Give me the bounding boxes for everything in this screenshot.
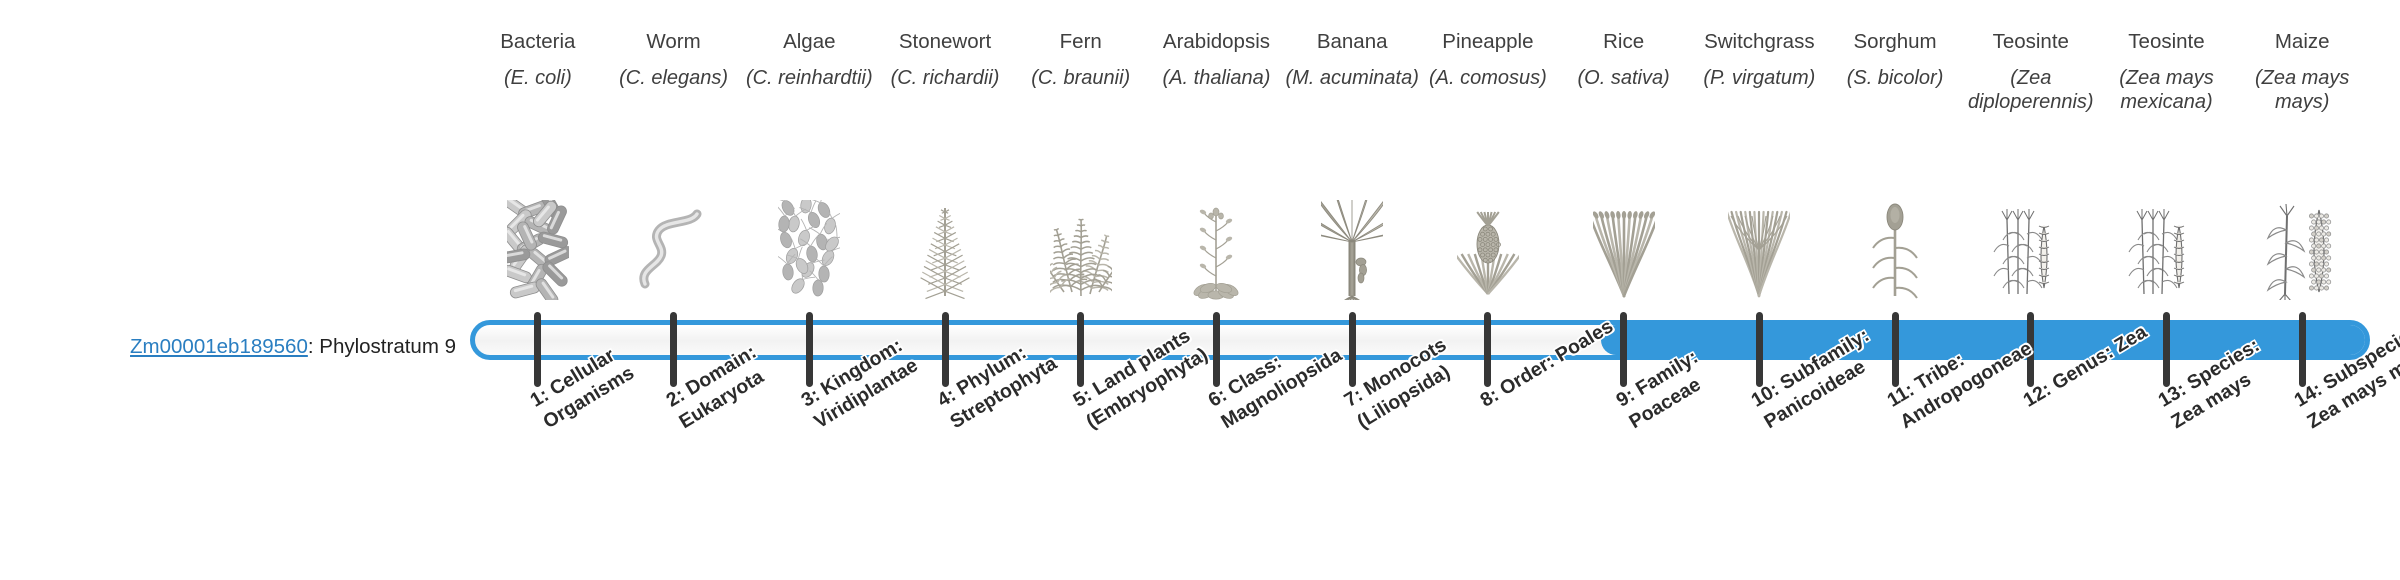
sorghum-icon: [1827, 195, 1963, 300]
gene-phylostratum-label: Zm00001eb189560: Phylostratum 9: [0, 336, 470, 359]
species-column: Arabidopsis(A. thaliana): [1149, 30, 1285, 300]
species-common-name: Teosinte: [1993, 30, 2069, 56]
taxonomy-label-layer: 1: Cellular Organisms2: Domain: Eukaryot…: [470, 392, 2370, 580]
species-column: Fern(C. braunii): [1013, 30, 1149, 300]
species-column: Maize(Zea mays mays): [2234, 30, 2370, 300]
teosinte-icon: [2099, 195, 2235, 300]
species-common-name: Arabidopsis: [1163, 30, 1270, 56]
species-common-name: Worm: [646, 30, 700, 56]
taxonomy-level-index: 8:: [1476, 384, 1502, 412]
species-column: Worm(C. elegans): [606, 30, 742, 300]
species-common-name: Switchgrass: [1704, 30, 1815, 56]
species-common-name: Pineapple: [1442, 30, 1533, 56]
species-column: Stonewort(C. richardii): [877, 30, 1013, 300]
species-common-name: Sorghum: [1853, 30, 1936, 56]
species-common-name: Maize: [2275, 30, 2330, 56]
species-scientific-name: (O. sativa): [1577, 67, 1669, 91]
species-header-strip: Bacteria(E. coli): [470, 30, 2370, 300]
species-common-name: Rice: [1603, 30, 1644, 56]
species-scientific-name: (Zea diploperennis): [1963, 67, 2099, 114]
phylostratum-figure: Zm00001eb189560: Phylostratum 9 Bacteria…: [0, 0, 2400, 580]
species-scientific-name: (Zea mays mexicana): [2099, 67, 2235, 114]
species-scientific-name: (C. reinhardtii): [746, 67, 873, 91]
species-column: Teosinte(Zea diploperennis): [1963, 30, 2099, 300]
species-scientific-name: (C. braunii): [1031, 67, 1130, 91]
arabidopsis-icon: [1149, 195, 1285, 300]
species-column: Switchgrass(P. virgatum): [1691, 30, 1827, 300]
species-scientific-name: (C. elegans): [619, 67, 728, 91]
gene-id-link[interactable]: Zm00001eb189560: [130, 335, 308, 358]
species-column: Rice(O. sativa): [1556, 30, 1692, 300]
species-column: Teosinte(Zea mays mexicana): [2099, 30, 2235, 300]
species-scientific-name: (C. richardii): [891, 67, 1000, 91]
teosinte-icon: [1963, 195, 2099, 300]
banana-icon: [1284, 195, 1420, 300]
worm-icon: [606, 195, 742, 300]
species-column: Banana(M. acuminata): [1284, 30, 1420, 300]
species-column: Bacteria(E. coli): [470, 30, 606, 300]
species-scientific-name: (P. virgatum): [1703, 67, 1815, 91]
species-scientific-name: (M. acuminata): [1285, 67, 1418, 91]
maize-icon: [2234, 195, 2370, 300]
bacteria-icon: [470, 195, 606, 300]
timeline-tick[interactable]: [534, 312, 541, 387]
species-scientific-name: (S. bicolor): [1847, 67, 1944, 91]
species-common-name: Banana: [1317, 30, 1388, 56]
species-column: Pineapple(A. comosus): [1420, 30, 1556, 300]
species-scientific-name: (E. coli): [504, 67, 572, 91]
species-scientific-name: (Zea mays mays): [2234, 67, 2370, 114]
species-common-name: Teosinte: [2128, 30, 2204, 56]
species-common-name: Algae: [783, 30, 835, 56]
timeline-tick[interactable]: [1620, 312, 1627, 387]
rice-icon: [1556, 195, 1692, 300]
species-column: Algae(C. reinhardtii): [741, 30, 877, 300]
species-common-name: Bacteria: [500, 30, 575, 56]
species-scientific-name: (A. thaliana): [1163, 67, 1271, 91]
gene-label-separator: :: [308, 335, 319, 358]
timeline-tick[interactable]: [2163, 312, 2170, 387]
algae-icon: [741, 195, 877, 300]
pineapple-icon: [1420, 195, 1556, 300]
species-common-name: Stonewort: [899, 30, 991, 56]
species-scientific-name: (A. comosus): [1429, 67, 1547, 91]
switchgrass-icon: [1691, 195, 1827, 300]
fern-icon: [1013, 195, 1149, 300]
taxonomy-level-index: 12:: [2019, 378, 2054, 411]
phylostratum-value-label: Phylostratum 9: [319, 335, 456, 358]
species-column: Sorghum(S. bicolor): [1827, 30, 1963, 300]
species-common-name: Fern: [1060, 30, 1102, 56]
stonewort-icon: [877, 195, 1013, 300]
